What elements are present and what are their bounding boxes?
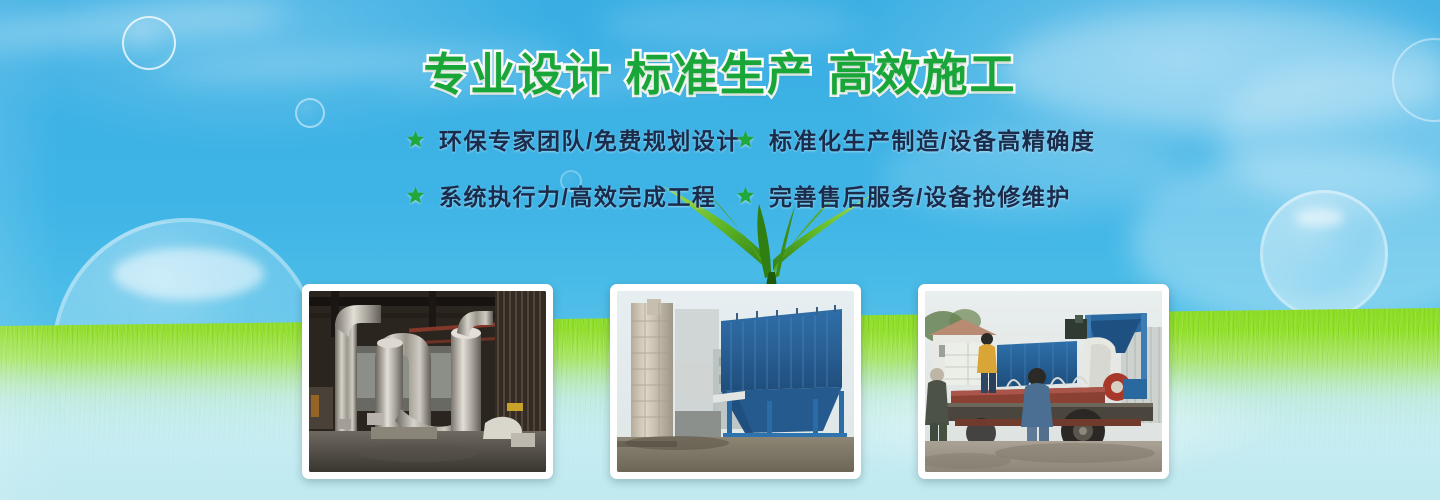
feature-list: 环保专家团队/免费规划设计 标准化生产制造/设备高精确度 系统执行力/高效完成工… [406, 122, 1106, 212]
photo-equipment-loading[interactable] [918, 284, 1169, 479]
photo-gallery [302, 284, 1170, 479]
photo-image [309, 291, 546, 472]
feature-label: 完善售后服务/设备抢修维护 [769, 178, 1071, 212]
promo-banner: 专业设计 标准生产 高效施工 环保专家团队/免费规划设计 标准化生产制造/设备高… [0, 0, 1440, 500]
feature-item: 环保专家团队/免费规划设计 [406, 122, 736, 156]
star-icon [406, 130, 425, 149]
star-icon [736, 186, 755, 205]
feature-item: 完善售后服务/设备抢修维护 [736, 178, 1106, 212]
page-title: 专业设计 标准生产 高效施工 [0, 38, 1440, 103]
star-icon [406, 186, 425, 205]
feature-item: 标准化生产制造/设备高精确度 [736, 122, 1106, 156]
feature-label: 系统执行力/高效完成工程 [439, 178, 716, 212]
photo-image [925, 291, 1162, 472]
feature-label: 环保专家团队/免费规划设计 [439, 122, 741, 156]
photo-factory-ductwork[interactable] [302, 284, 553, 479]
photo-image [617, 291, 854, 472]
star-icon [736, 130, 755, 149]
feature-item: 系统执行力/高效完成工程 [406, 178, 736, 212]
photo-dust-collector[interactable] [610, 284, 861, 479]
feature-label: 标准化生产制造/设备高精确度 [769, 122, 1095, 156]
